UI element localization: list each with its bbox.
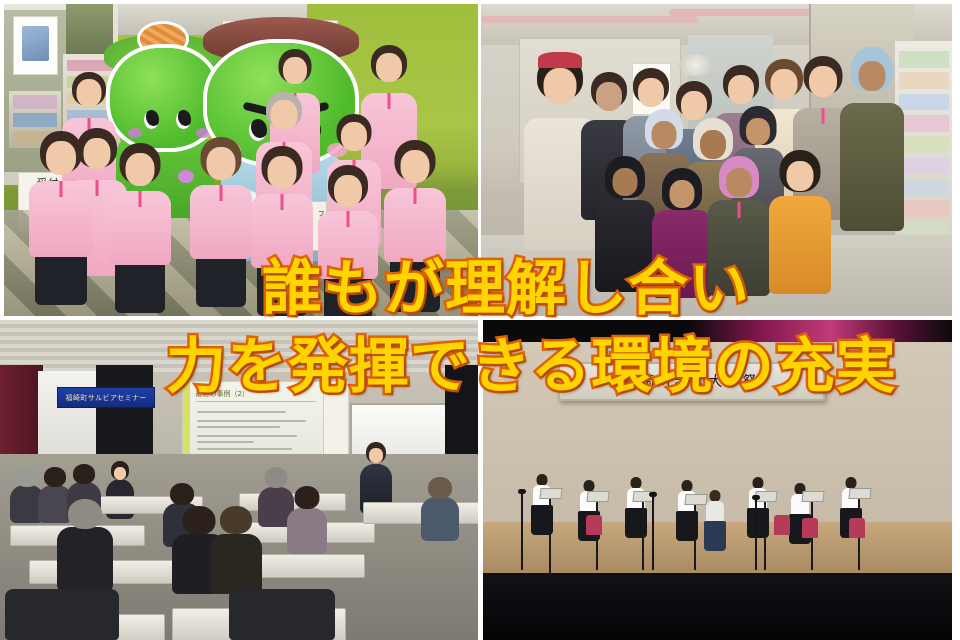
person: [28, 129, 94, 304]
person: [108, 141, 172, 311]
wall-poster: [13, 16, 58, 74]
person: [317, 163, 379, 316]
chair: [5, 589, 120, 640]
person: [707, 154, 771, 296]
attendee: [210, 506, 262, 594]
microphone-stand: [652, 496, 654, 570]
audience-area: [483, 573, 952, 640]
festival-banner: 福崎町老人大学祭: [558, 362, 825, 401]
slide-bullet: [197, 411, 286, 413]
gutter-vertical-bottom: [478, 320, 483, 640]
lobby-photo: 受付: [4, 4, 478, 316]
slide-bullet: [197, 448, 292, 450]
attendee: [421, 477, 459, 541]
person: [651, 166, 713, 298]
attendee: [57, 499, 113, 591]
person: [250, 144, 314, 314]
photo-cell-top-left[interactable]: 受付: [4, 4, 478, 316]
chair: [774, 515, 790, 535]
person: [189, 135, 253, 305]
photo-cell-bottom-right[interactable]: 福崎町老人大学祭: [483, 320, 952, 640]
person: [839, 45, 905, 230]
chair: [586, 515, 602, 535]
slide-rule: [196, 401, 316, 402]
chair: [229, 589, 334, 640]
music-stand: [642, 499, 644, 569]
gutter-vertical-top: [478, 0, 481, 320]
music-stand: [694, 502, 696, 569]
seminar-banner-text: 福崎町サルビアセミナー: [66, 393, 147, 403]
music-stand: [764, 499, 766, 569]
ceiling-pipe: [481, 16, 698, 23]
gutter-left: [0, 0, 4, 320]
office-photo: [481, 4, 952, 316]
seminar-photo: 福崎町サルビアセミナー 最近の事例（2）: [0, 320, 478, 640]
gutter-right: [952, 0, 960, 640]
chair: [802, 518, 818, 538]
attendee: [287, 486, 327, 554]
stage-photo: 福崎町老人大学祭: [483, 320, 952, 640]
person: [383, 138, 447, 310]
gutter-horizontal: [0, 316, 481, 320]
photo-collage: 受付: [0, 0, 960, 640]
slide-title: 最近の事例（2）: [196, 389, 249, 399]
slide-bullet: [197, 441, 254, 443]
projection-screen: 最近の事例（2）: [182, 381, 327, 457]
ceiling: [0, 320, 478, 374]
collage-canvas: 受付: [0, 0, 960, 640]
microphone-stand: [521, 493, 523, 570]
slide-bullet: [197, 426, 280, 428]
slide-bullet: [197, 435, 297, 437]
wall-vent: [679, 54, 712, 76]
photo-cell-top-right[interactable]: [481, 4, 952, 316]
festival-banner-text: 福崎町老人大学祭: [623, 371, 759, 391]
vertical-poster: [323, 381, 349, 466]
person: [768, 148, 832, 294]
music-stand: [549, 496, 551, 573]
photo-cell-bottom-left[interactable]: 福崎町サルビアセミナー 最近の事例（2）: [0, 320, 478, 640]
slide-bullet: [197, 420, 306, 422]
microphone-stand: [755, 499, 757, 569]
chair: [849, 518, 865, 538]
person: [594, 154, 656, 292]
seminar-banner: 福崎町サルビアセミナー: [57, 387, 155, 408]
slide-accent-bar: [183, 382, 190, 456]
